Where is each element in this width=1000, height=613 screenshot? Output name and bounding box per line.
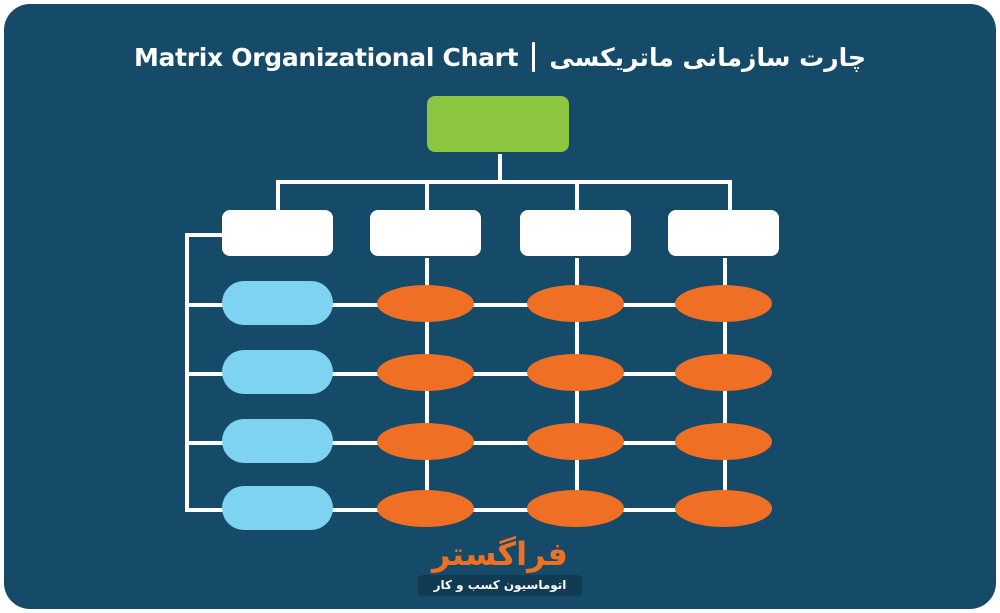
node-matrix-cell-r4c2[interactable] xyxy=(527,490,624,527)
node-matrix-cell-r2c1[interactable] xyxy=(377,354,474,391)
logo-wordmark: فراگستر xyxy=(432,538,568,572)
brand-logo: فراگستر اتوماسیون کسب و کار xyxy=(4,538,996,596)
node-department-1[interactable] xyxy=(222,210,333,256)
node-function-4[interactable] xyxy=(222,486,333,530)
node-matrix-cell-r4c3[interactable] xyxy=(675,490,772,527)
node-department-2[interactable] xyxy=(370,210,481,256)
node-matrix-cell-r1c2[interactable] xyxy=(527,285,624,322)
node-department-4[interactable] xyxy=(668,210,779,256)
connector-department-bus xyxy=(276,180,732,184)
node-function-3[interactable] xyxy=(222,419,333,463)
node-matrix-cell-r1c1[interactable] xyxy=(377,285,474,322)
node-matrix-cell-r1c3[interactable] xyxy=(675,285,772,322)
node-matrix-cell-r2c3[interactable] xyxy=(675,354,772,391)
node-function-2[interactable] xyxy=(222,350,333,394)
node-matrix-cell-r4c1[interactable] xyxy=(377,490,474,527)
logo-tagline: اتوماسیون کسب و کار xyxy=(418,575,583,596)
node-department-3[interactable] xyxy=(520,210,631,256)
node-matrix-cell-r3c2[interactable] xyxy=(527,423,624,460)
node-matrix-cell-r2c2[interactable] xyxy=(527,354,624,391)
node-root[interactable] xyxy=(427,96,569,152)
node-matrix-cell-r3c3[interactable] xyxy=(675,423,772,460)
screenshot-canvas: Matrix Organizational Chart چارت سازمانی… xyxy=(0,0,1000,613)
org-chart-diagram xyxy=(4,4,996,609)
chart-panel: Matrix Organizational Chart چارت سازمانی… xyxy=(4,4,996,609)
node-matrix-cell-r3c1[interactable] xyxy=(377,423,474,460)
connector-left-spine xyxy=(185,233,189,509)
node-function-1[interactable] xyxy=(222,281,333,325)
